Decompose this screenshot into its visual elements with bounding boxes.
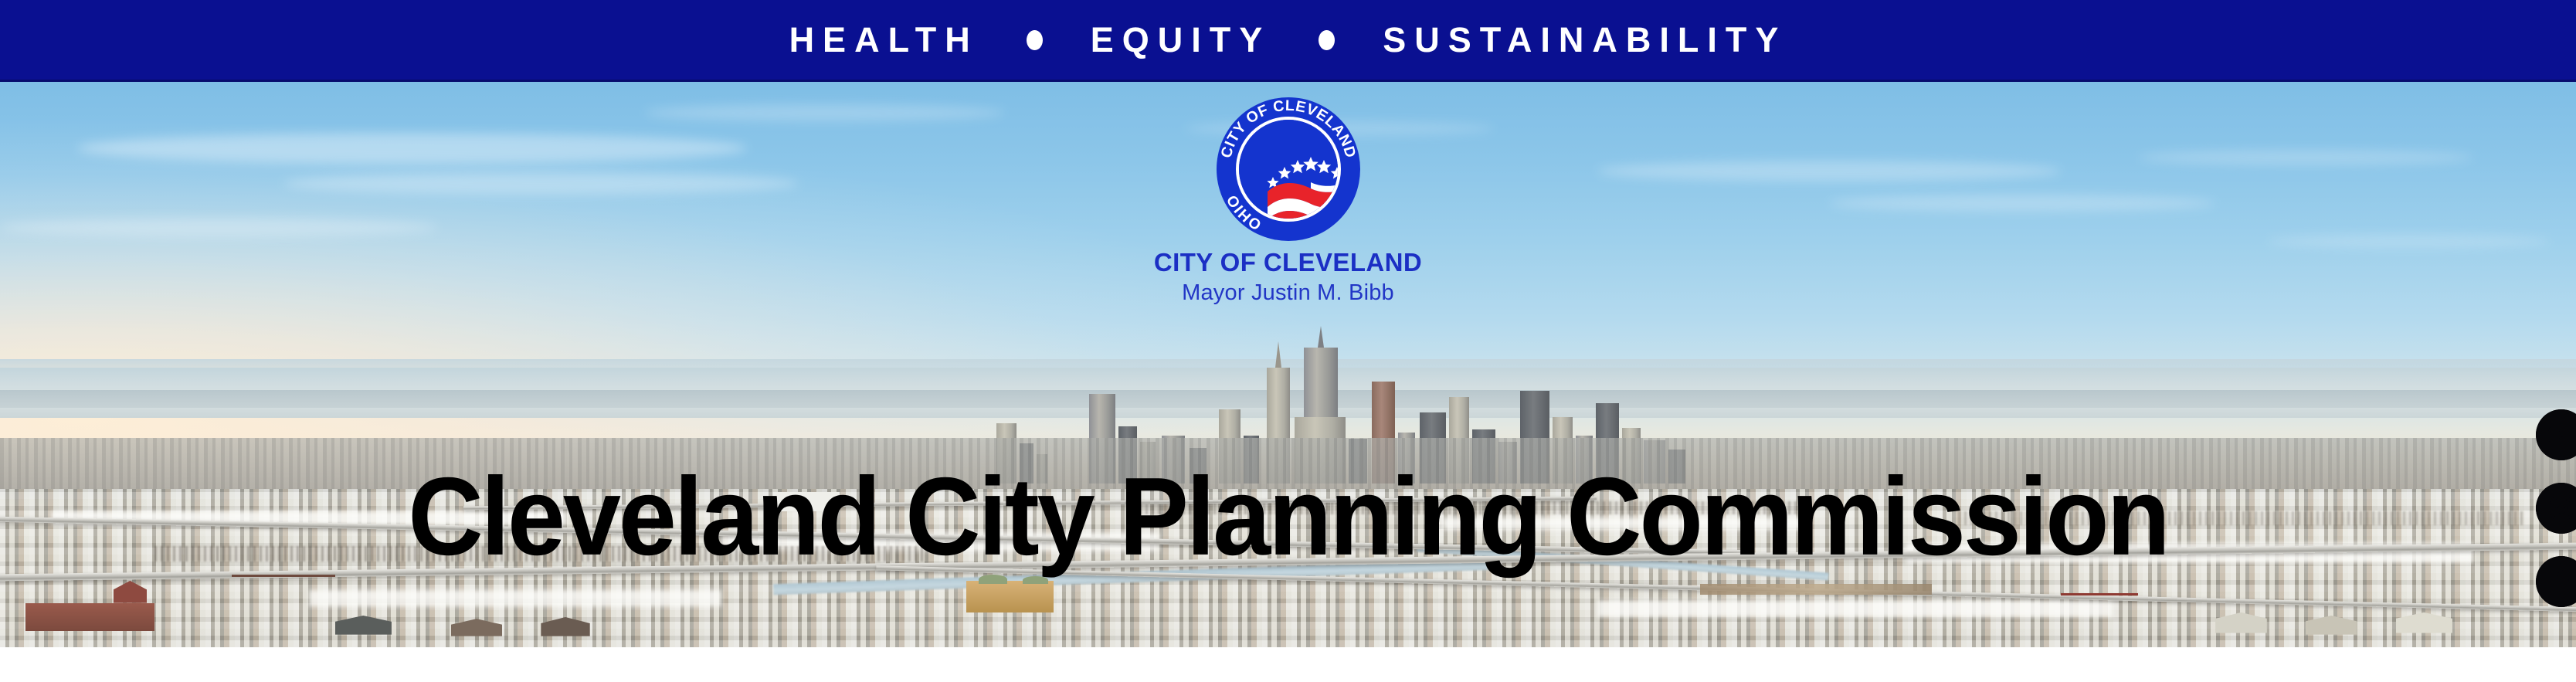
tagline-separator-dot-2 [1319,30,1335,50]
church-building [966,581,1054,612]
social-media-rail [2536,409,2576,607]
city-wordmark: CITY OF CLEVELAND [1154,248,1422,277]
snow-field [309,590,721,606]
facebook-icon [2536,556,2576,607]
youtube-icon [2536,409,2576,460]
tagline-word-health: HEALTH [789,22,979,57]
rail-car [232,575,334,577]
instagram-icon [2536,483,2576,534]
mayor-name: Mayor Justin M. Bibb [1182,280,1394,306]
hero-photo: CITY OF CLEVELAND OHIO [0,82,2576,647]
city-of-cleveland-seal: CITY OF CLEVELAND OHIO [1217,97,1360,241]
rail-car [2061,593,2138,595]
tagline-banner: HEALTH EQUITY SUSTAINABILITY [0,0,2576,82]
tagline-separator-dot-1 [1027,30,1043,50]
industrial-yard [1700,584,1932,595]
tagline-word-sustainability: SUSTAINABILITY [1383,22,1787,57]
snow-field [1597,600,2113,618]
brick-building [25,603,154,632]
bottom-white-strip [0,647,2576,682]
page-title: Cleveland City Planning Commission [0,462,2576,572]
tagline-word-equity: EQUITY [1091,22,1271,57]
tagline-words: HEALTH EQUITY SUSTAINABILITY [789,22,1787,57]
skyline-spire [1318,326,1324,348]
seal-flag [1261,142,1338,219]
social-link-facebook[interactable] [2536,556,2576,607]
social-link-instagram[interactable] [2536,483,2576,534]
skyline-spire [1275,341,1281,368]
social-link-youtube[interactable] [2536,409,2576,460]
city-logo-lockup: CITY OF CLEVELAND OHIO [0,97,2576,306]
seal-emblem [1239,120,1338,219]
